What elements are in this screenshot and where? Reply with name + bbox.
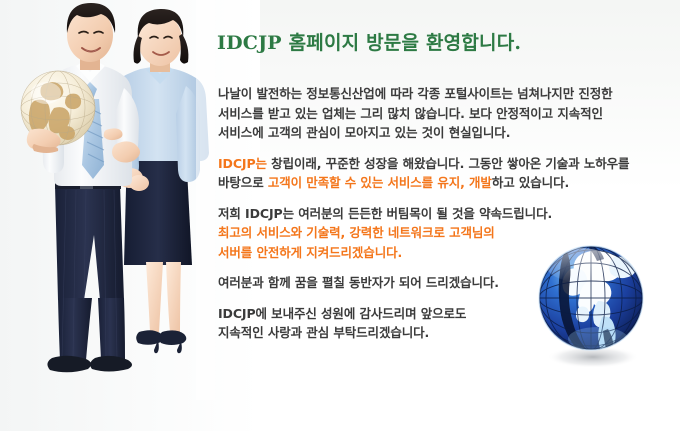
highlight-text: 최고의 서비스와 기술력, 강력한 네트워크로 고객님의 [218, 225, 495, 240]
highlight-text: 서버를 안전하게 지켜드리겠습니다. [218, 245, 402, 260]
body-text: 서비스에 고객의 관심이 모아지고 있는 것이 현실입니다. [218, 125, 510, 140]
body-text: IDCJP에 보내주신 성원에 감사드리며 앞으로도 [218, 306, 466, 321]
text-line: 나날이 발전하는 정보통신산업에 따라 각종 포털사이트는 넘쳐나지만 진정한 [218, 84, 673, 104]
body-text: 나날이 발전하는 정보통신산업에 따라 각종 포털사이트는 넘쳐나지만 진정한 [218, 86, 613, 101]
text-line: 바탕으로 고객이 만족할 수 있는 서비스를 유지, 개발하고 있습니다. [218, 173, 673, 193]
text-line: 저희 IDCJP는 여러분의 든든한 버팀목이 될 것을 약속드립니다. [218, 204, 673, 224]
page-title: IDCJP 홈페이지 방문을 환영합니다. [217, 28, 521, 55]
text-line: 서비스를 받고 있는 업체는 그리 많치 않습니다. 보다 안정적이고 지속적인 [218, 104, 673, 124]
body-text: 서비스를 받고 있는 업체는 그리 많치 않습니다. 보다 안정적이고 지속적인 [218, 106, 603, 121]
businessman-figure [21, 3, 140, 372]
business-couple-photo [0, 0, 215, 400]
body-text: 하고 있습니다. [492, 175, 569, 190]
text-line: 서비스에 고객의 관심이 모아지고 있는 것이 현실입니다. [218, 123, 673, 143]
body-text: 바탕으로 [218, 175, 268, 190]
highlight-text: 고객이 만족할 수 있는 서비스를 유지, 개발 [268, 175, 492, 190]
welcome-page: IDCJP 홈페이지 방문을 환영합니다. 나날이 발전하는 정보통신산업에 따… [0, 0, 680, 431]
highlight-text: IDCJP는 [218, 156, 271, 171]
body-text: 지속적인 사랑과 관심 부탁드리겠습니다. [218, 325, 429, 340]
text-line: IDCJP는 창립이래, 꾸준한 성장을 해왔습니다. 그동안 쌓아온 기술과 … [218, 154, 673, 174]
body-text: 창립이래, 꾸준한 성장을 해왔습니다. 그동안 쌓아온 기술과 노하우를 [271, 156, 629, 171]
paragraph-growth: IDCJP는 창립이래, 꾸준한 성장을 해왔습니다. 그동안 쌓아온 기술과 … [218, 154, 673, 193]
body-text: 저희 IDCJP는 여러분의 든든한 버팀목이 될 것을 약속드립니다. [218, 206, 552, 221]
paragraph-intro: 나날이 발전하는 정보통신산업에 따라 각종 포털사이트는 넘쳐나지만 진정한서… [218, 84, 673, 143]
text-line: 최고의 서비스와 기술력, 강력한 네트워크로 고객님의 [218, 223, 673, 243]
blue-globe-graphic [536, 243, 656, 371]
body-text: 여러분과 함께 꿈을 펼칠 동반자가 되어 드리겠습니다. [218, 275, 499, 290]
